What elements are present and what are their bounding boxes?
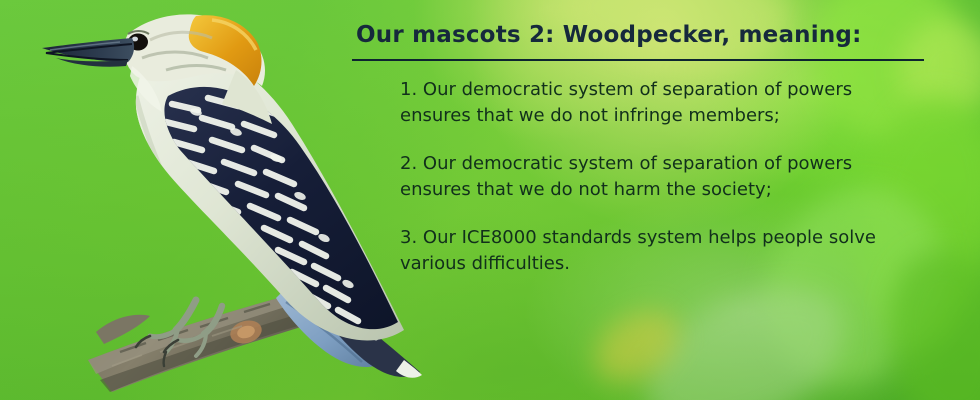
bird-beak xyxy=(42,38,134,67)
page-title: Our mascots 2: Woodpecker, meaning: xyxy=(356,22,928,48)
meaning-list: 1. Our democratic system of separation o… xyxy=(400,77,928,277)
title-divider xyxy=(352,59,924,61)
mascot-banner: Our mascots 2: Woodpecker, meaning: 1. O… xyxy=(0,0,980,400)
list-item: 1. Our democratic system of separation o… xyxy=(400,77,922,129)
list-item: 2. Our democratic system of separation o… xyxy=(400,151,922,203)
list-item: 3. Our ICE8000 standards system helps pe… xyxy=(400,225,922,277)
text-panel: Our mascots 2: Woodpecker, meaning: 1. O… xyxy=(352,22,928,277)
